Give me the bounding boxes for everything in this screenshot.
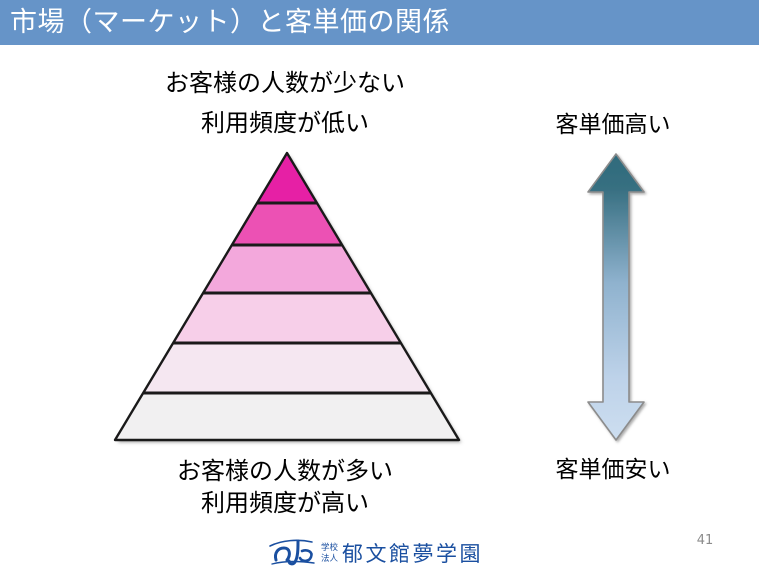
logo-small-text-line2: 法人 bbox=[321, 553, 339, 564]
pyramid-band-3 bbox=[100, 245, 480, 293]
logo-small-text-line1: 学校 bbox=[321, 542, 339, 553]
pyramid-bottom-caption: お客様の人数が多い 利用頻度が高い bbox=[95, 455, 475, 519]
axis-label-low: 客単価安い bbox=[513, 455, 713, 485]
school-logo: 学校 法人 郁文館夢学園 bbox=[268, 537, 480, 567]
pyramid-band-1 bbox=[100, 153, 480, 203]
pyramid-top-caption-line2: 利用頻度が低い bbox=[95, 106, 475, 140]
page-title: 市場（マーケット）と客単価の関係 bbox=[10, 3, 450, 43]
ikubunkan-monogram-icon bbox=[270, 540, 314, 564]
pyramid-bottom-caption-line1: お客様の人数が多い bbox=[95, 455, 475, 487]
pyramid-bottom-caption-line2: 利用頻度が高い bbox=[95, 487, 475, 519]
double-headed-arrow-icon bbox=[585, 152, 647, 442]
pyramid-top-caption-line1: お客様の人数が少ない bbox=[95, 66, 475, 100]
pyramid-band-2 bbox=[100, 203, 480, 245]
pyramid-band-6 bbox=[100, 393, 480, 440]
pyramid-band-4 bbox=[100, 293, 480, 343]
axis-label-high: 客単価高い bbox=[513, 110, 713, 140]
page-number: 41 bbox=[680, 533, 730, 548]
pyramid-top-caption: お客様の人数が少ない 利用頻度が低い bbox=[95, 66, 475, 140]
pyramid-diagram bbox=[100, 145, 480, 455]
logo-name: 郁文館夢学園 bbox=[342, 542, 480, 566]
slide-title-bar: 市場（マーケット）と客単価の関係 bbox=[0, 0, 759, 45]
